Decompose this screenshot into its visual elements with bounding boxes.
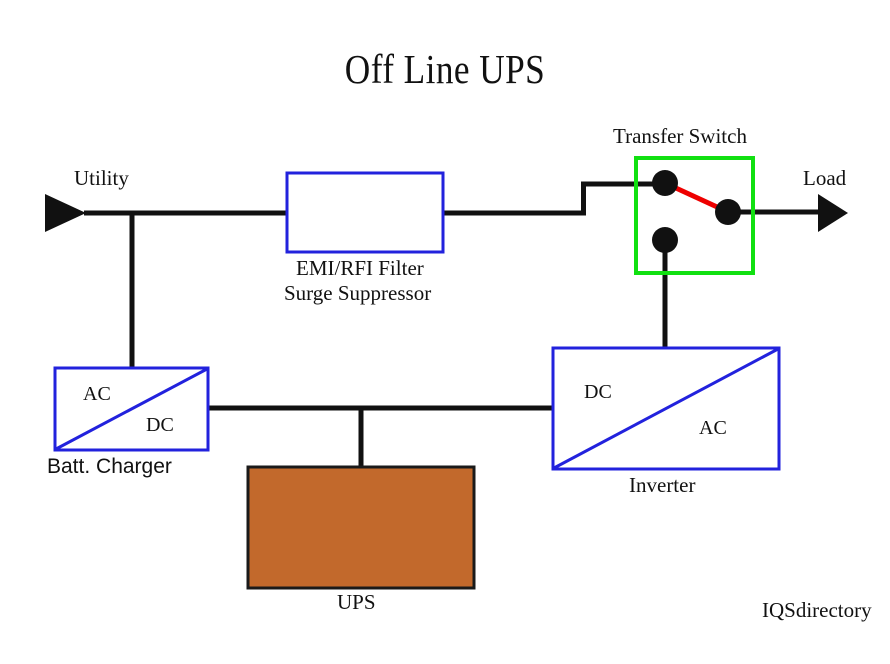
switch-node-load (715, 199, 741, 225)
ups-battery-block (248, 467, 474, 588)
utility-input-arrow-icon (45, 194, 86, 232)
label-emi-rfi-filter-line1: EMI/RFI Filter (296, 258, 424, 279)
label-load: Load (803, 168, 846, 189)
page-title: Off Line UPS (62, 45, 827, 93)
label-charger-dc: DC (146, 415, 174, 435)
label-charger-ac: AC (83, 384, 111, 404)
label-transfer-switch: Transfer Switch (613, 126, 747, 147)
label-battery-charger: Batt. Charger (47, 456, 172, 477)
load-output-arrow-icon (818, 194, 848, 232)
watermark: IQSdirectory (762, 598, 872, 623)
label-utility: Utility (74, 168, 129, 189)
emi-rfi-filter-block (287, 173, 443, 252)
switch-node-utility (652, 170, 678, 196)
label-inverter-dc: DC (584, 382, 612, 402)
switch-node-inverter (652, 227, 678, 253)
label-inverter-ac: AC (699, 418, 727, 438)
ups-block-diagram: Off Line UPS Utility Load Transfer Switc… (0, 0, 890, 664)
diagram-canvas (0, 0, 890, 664)
label-emi-rfi-filter-line2: Surge Suppressor (284, 283, 431, 304)
label-inverter: Inverter (629, 475, 695, 496)
label-ups: UPS (337, 592, 376, 613)
